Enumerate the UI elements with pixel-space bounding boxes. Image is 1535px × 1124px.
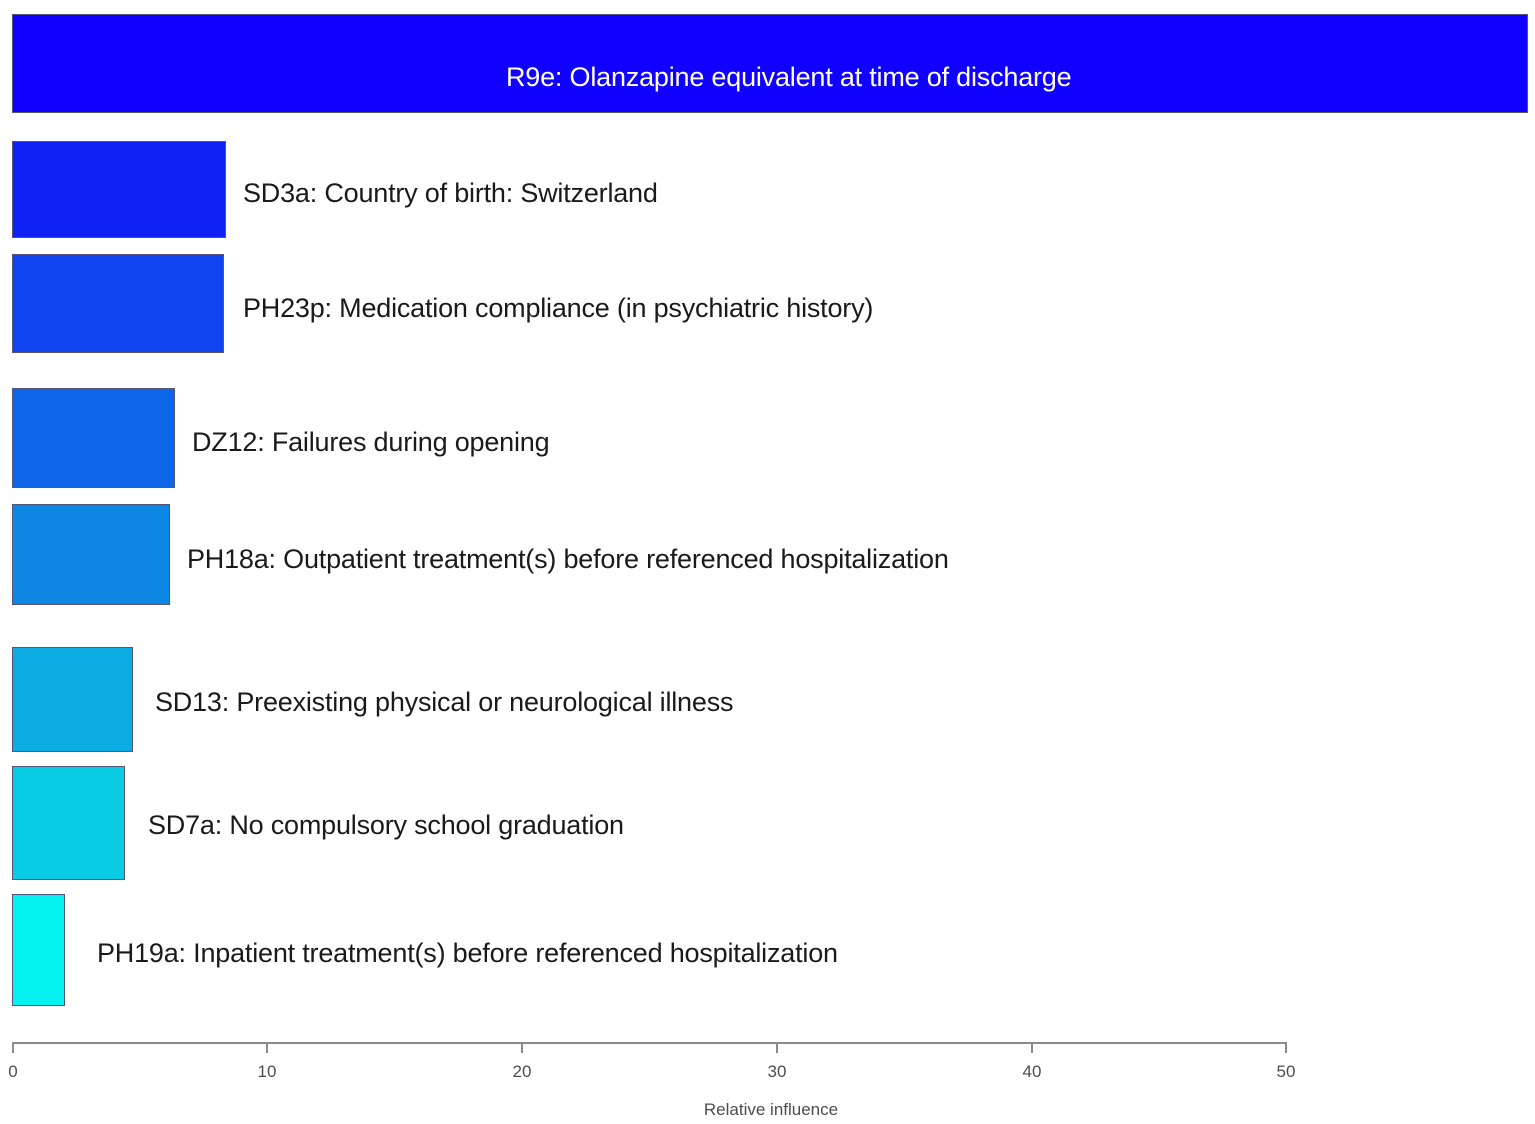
bar-label-r9e: R9e: Olanzapine equivalent at time of di… [506,64,1071,91]
x-axis-tick-40 [1031,1042,1033,1053]
bar-label-dz12: DZ12: Failures during opening [192,429,549,456]
x-axis-tick-label-10: 10 [258,1063,277,1080]
x-axis-tick-label-50: 50 [1277,1063,1296,1080]
bar-label-ph18a: PH18a: Outpatient treatment(s) before re… [187,546,949,573]
bar-label-ph19a: PH19a: Inpatient treatment(s) before ref… [97,940,838,967]
bar-ph19a[interactable] [12,894,65,1006]
x-axis-tick-label-30: 30 [768,1063,787,1080]
x-axis-tick-30 [776,1042,778,1053]
chart-canvas: R9e: Olanzapine equivalent at time of di… [0,0,1535,1124]
bar-ph23p[interactable] [12,254,224,353]
x-axis-line [12,1042,1286,1044]
bar-dz12[interactable] [12,388,175,488]
x-axis-tick-20 [521,1042,523,1053]
x-axis-tick-label-0: 0 [8,1063,17,1080]
bar-ph18a[interactable] [12,504,170,605]
bar-label-sd3a: SD3a: Country of birth: Switzerland [243,180,658,207]
bar-sd13[interactable] [12,647,133,752]
x-axis-title: Relative influence [704,1101,838,1118]
x-axis-tick-50 [1285,1042,1287,1053]
bar-label-ph23p: PH23p: Medication compliance (in psychia… [243,295,873,322]
bar-label-sd7a: SD7a: No compulsory school graduation [148,812,624,839]
x-axis-tick-label-20: 20 [513,1063,532,1080]
bar-label-sd13: SD13: Preexisting physical or neurologic… [155,689,733,716]
x-axis-tick-10 [266,1042,268,1053]
x-axis-tick-0 [12,1042,14,1053]
bar-sd7a[interactable] [12,766,125,880]
bar-sd3a[interactable] [12,141,226,238]
x-axis-tick-label-40: 40 [1023,1063,1042,1080]
